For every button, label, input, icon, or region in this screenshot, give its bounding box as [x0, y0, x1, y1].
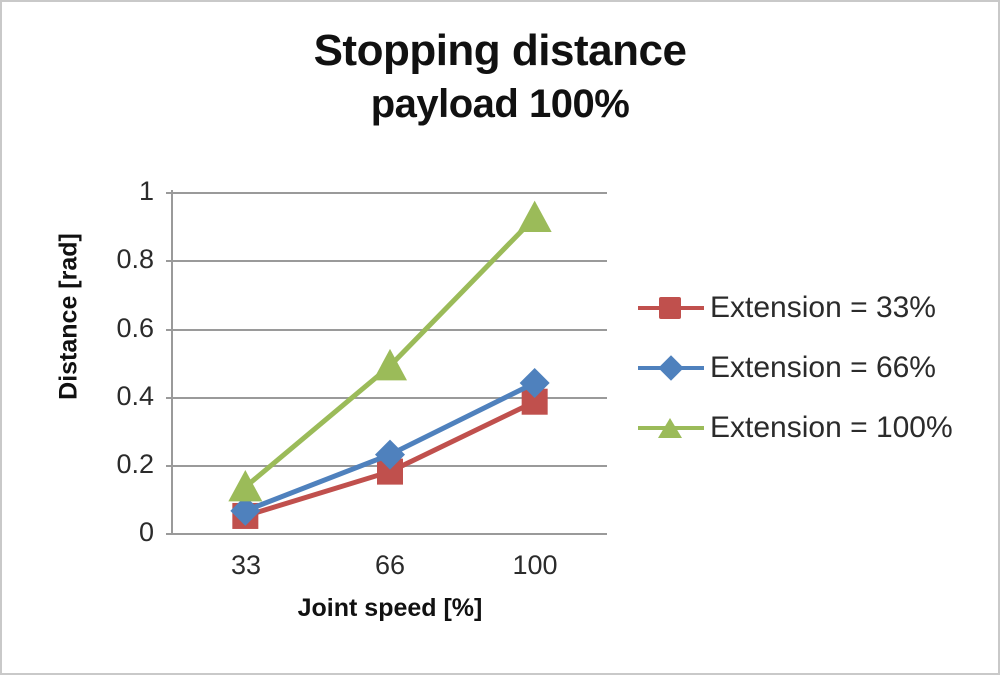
legend-label-extension-66: Extension = 66% — [710, 353, 936, 383]
x-tick-label-100: 100 — [475, 550, 595, 581]
legend-key-diamond-icon — [638, 355, 704, 381]
gridline-0-4 — [173, 397, 607, 399]
x-tick-label-33: 33 — [186, 550, 306, 581]
x-axis-line — [173, 533, 607, 535]
y-tick-0 — [166, 533, 174, 535]
y-axis-title: Distance [rad] — [55, 207, 84, 427]
y-tick-label-0-2: 0.2 — [94, 451, 154, 478]
legend-marker-square-icon — [659, 297, 681, 319]
y-tick-0-4 — [166, 397, 174, 399]
x-axis-title: Joint speed [%] — [173, 594, 607, 623]
y-tick-label-0-4: 0.4 — [94, 383, 154, 410]
legend-key-triangle-icon — [638, 415, 704, 441]
legend-item-extension-66: Extension = 66% — [638, 338, 988, 398]
legend-item-extension-33: Extension = 33% — [638, 278, 988, 338]
chart-image-frame: Stopping distance payload 100% Distance … — [0, 0, 1000, 675]
x-tick-label-66: 66 — [330, 550, 450, 581]
y-tick-0-2 — [166, 465, 174, 467]
gridline-1 — [173, 192, 607, 194]
legend-label-extension-100: Extension = 100% — [710, 413, 953, 443]
y-axis-tick-labels: 1 0.8 0.6 0.4 0.2 0 — [94, 2, 154, 677]
y-tick-label-0: 0 — [94, 519, 154, 546]
legend-key-square-icon — [638, 295, 704, 321]
legend-label-extension-33: Extension = 33% — [710, 293, 936, 323]
y-tick-label-0-8: 0.8 — [94, 246, 154, 273]
y-tick-label-0-6: 0.6 — [94, 315, 154, 342]
gridline-0-2 — [173, 465, 607, 467]
gridline-0-6 — [173, 329, 607, 331]
legend-marker-triangle-icon — [658, 418, 682, 438]
y-tick-0-6 — [166, 329, 174, 331]
y-tick-0-8 — [166, 260, 174, 262]
y-tick-label-1: 1 — [94, 178, 154, 205]
legend-marker-diamond-icon — [658, 355, 683, 380]
legend-item-extension-100: Extension = 100% — [638, 398, 988, 458]
plot-area — [173, 192, 607, 533]
chart-legend: Extension = 33% Extension = 66% Extensio… — [638, 278, 988, 458]
y-tick-1 — [166, 192, 174, 194]
gridline-0-8 — [173, 260, 607, 262]
